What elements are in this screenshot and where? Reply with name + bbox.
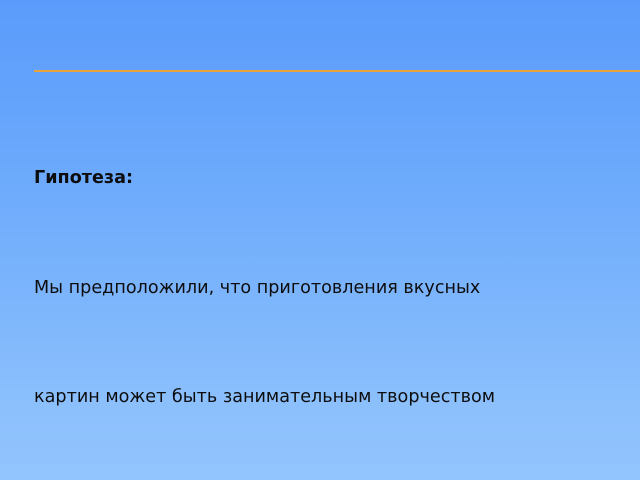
- hypothesis-line-1: Мы предположили, что приготовления вкусн…: [34, 275, 638, 302]
- hypothesis-line-2: картин может быть занимательным творчест…: [34, 384, 638, 411]
- orange-divider-line: [34, 70, 640, 72]
- slide-body-text: Гипотеза: Мы предположили, что приготовл…: [34, 83, 638, 480]
- heading-hypothesis: Гипотеза:: [34, 165, 638, 192]
- presentation-slide: Гипотеза: Мы предположили, что приготовл…: [0, 0, 640, 480]
